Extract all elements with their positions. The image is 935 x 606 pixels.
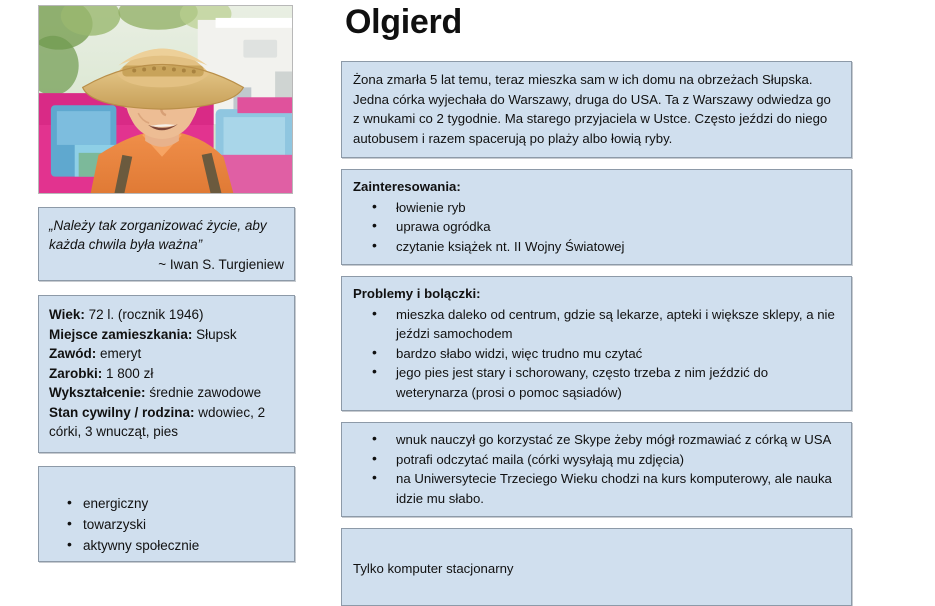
demographics-value: 1 800 zł [106,366,153,381]
quote-box: „Należy tak zorganizować życie, aby każd… [38,207,295,281]
problems-heading: Problemy i bolączki: [353,284,840,304]
interests-list: łowienie ryb uprawa ogródka czytanie ksi… [353,198,840,257]
list-item: bardzo słabo widzi, więc trudno mu czyta… [386,344,840,364]
page-title: Olgierd [345,2,852,42]
demographics-value: emeryt [100,346,141,361]
right-column: Olgierd Żona zmarła 5 lat temu, teraz mi… [341,0,852,606]
demographics-label: Stan cywilny / rodzina: [49,405,195,420]
list-item: energiczny [83,493,294,514]
list-item: potrafi odczytać maila (córki wysyłają m… [386,450,840,470]
demographics-value: średnie zawodowe [149,385,261,400]
left-column: „Należy tak zorganizować życie, aby każd… [38,5,295,562]
persona-photo [38,5,293,194]
demographics-row: Zarobki: 1 800 zł [49,364,284,384]
interests-heading: Zainteresowania: [353,177,840,197]
list-item: wnuk nauczył go korzystać ze Skype żeby … [386,430,840,450]
list-item: aktywny społecznie [83,535,294,556]
demographics-label: Zawód: [49,346,96,361]
list-item: uprawa ogródka [386,217,840,237]
demographics-row: Zawód: emeryt [49,344,284,364]
demographics-row: Wiek: 72 l. (rocznik 1946) [49,305,284,325]
devices-text: Tylko komputer stacjonarny [353,559,514,579]
traits-box: energiczny towarzyski aktywny społecznie [38,466,295,562]
quote-author: ~ Iwan S. Turgieniew [49,255,284,274]
story-text: Żona zmarła 5 lat temu, teraz mieszka sa… [353,70,840,148]
persona-sheet: „Należy tak zorganizować życie, aby każd… [0,0,935,533]
demographics-value: Słupsk [196,327,237,342]
problems-box: Problemy i bolączki: mieszka daleko od c… [341,276,852,411]
demographics-label: Wiek: [49,307,85,322]
demographics-label: Miejsce zamieszkania: [49,327,192,342]
list-item: czytanie książek nt. II Wojny Światowej [386,237,840,257]
story-box: Żona zmarła 5 lat temu, teraz mieszka sa… [341,61,852,158]
list-item: łowienie ryb [386,198,840,218]
interests-box: Zainteresowania: łowienie ryb uprawa ogr… [341,169,852,265]
skills-box: wnuk nauczył go korzystać ze Skype żeby … [341,422,852,517]
list-item: na Uniwersytecie Trzeciego Wieku chodzi … [386,469,840,508]
demographics-row: Wykształcenie: średnie zawodowe [49,383,284,403]
demographics-row: Miejsce zamieszkania: Słupsk [49,325,284,345]
traits-list: energiczny towarzyski aktywny społecznie [39,467,294,556]
list-item: mieszka daleko od centrum, gdzie są leka… [386,305,840,344]
list-item: towarzyski [83,514,294,535]
quote-text: „Należy tak zorganizować życie, aby każd… [49,216,284,254]
demographics-value: 72 l. (rocznik 1946) [89,307,204,322]
problems-list: mieszka daleko od centrum, gdzie są leka… [353,305,840,403]
demographics-row: Stan cywilny / rodzina: wdowiec, 2 córki… [49,403,284,442]
devices-box: Tylko komputer stacjonarny [341,528,852,606]
demographics-label: Wykształcenie: [49,385,146,400]
skills-list: wnuk nauczył go korzystać ze Skype żeby … [353,430,840,508]
list-item: jego pies jest stary i schorowany, częst… [386,363,840,402]
persona-photo-image [39,6,292,194]
demographics-label: Zarobki: [49,366,102,381]
demographics-box: Wiek: 72 l. (rocznik 1946) Miejsce zamie… [38,295,295,453]
